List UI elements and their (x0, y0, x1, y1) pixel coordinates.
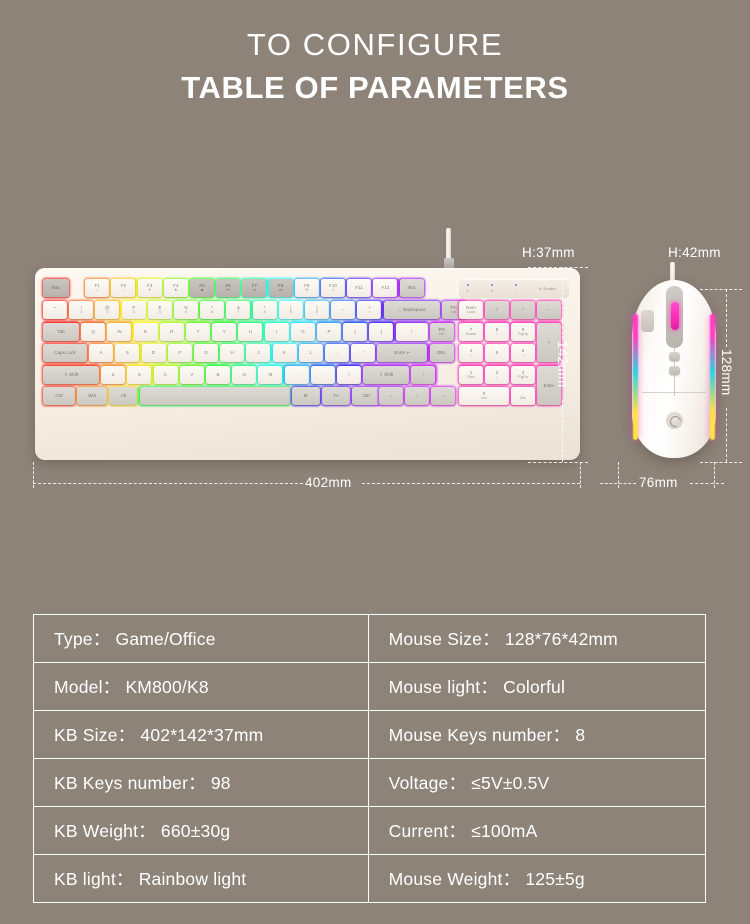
guide-mouse-left (618, 462, 619, 488)
keyboard-key: O (291, 323, 315, 341)
keyboard-key: Esc (43, 279, 69, 297)
guide-mouse-bottom (700, 462, 742, 463)
spec-value: KM800/K8 (125, 677, 208, 697)
keyboard-key: 1End (459, 366, 483, 384)
keyboard-key: ^6 (200, 301, 224, 319)
keyboard-key: !1 (69, 301, 93, 319)
keyboard-key: 5 (485, 344, 509, 362)
keyboard-key: G (194, 344, 218, 362)
keyboard-key: R (160, 323, 184, 341)
keyboard-key: ~` (43, 301, 67, 319)
indicator-label: ↓ (515, 289, 517, 293)
spec-value: Game/Office (116, 629, 216, 649)
keyboard-key: F2← (111, 279, 135, 297)
keyboard-key: $4 (148, 301, 172, 319)
keyboard-key: D (142, 344, 166, 362)
spec-cell-right: Mouse Keys number： 8 (368, 711, 705, 759)
indicator-label: 1 (467, 289, 469, 293)
spec-cell-right: Mouse Weight： 125±5g (368, 855, 705, 903)
keyboard-key: Z (101, 366, 125, 384)
spec-label: Mouse Weight： (389, 869, 521, 889)
spec-row: Type： Game/OfficeMouse Size： 128*76*42mm (34, 615, 706, 663)
indicator-label: A (491, 289, 493, 293)
dim-keyboard-width: 402mm (305, 475, 352, 490)
keyboard-key: F3☀ (138, 279, 162, 297)
spec-row: Model： KM800/K8Mouse light： Colorful (34, 663, 706, 711)
keyboard-key: 3PgDn (511, 366, 535, 384)
spec-cell-left: Type： Game/Office (34, 615, 369, 663)
guide-mouse-width (600, 483, 636, 484)
keyboard-key: N (232, 366, 256, 384)
keyboard-key: L (299, 344, 323, 362)
keyboard-key: \ (396, 323, 428, 341)
spec-row: KB Size： 402*142*37mmMouse Keys number： … (34, 711, 706, 759)
keyboard-key: V (180, 366, 204, 384)
keyboard-key: 9PgUp (511, 323, 535, 341)
keyboard-key: ⇧ Shift (43, 366, 99, 384)
keyboard-key: B (206, 366, 230, 384)
keyboard-brand-logo: K-Snake (539, 286, 556, 291)
spec-label: Mouse light： (389, 677, 498, 697)
spec-value: Colorful (503, 677, 565, 697)
keyboard-key: F4★ (164, 279, 188, 297)
keyboard-key: * (511, 301, 535, 319)
keyboard-key: ] (369, 323, 393, 341)
spec-cell-left: KB Keys number： 98 (34, 759, 369, 807)
keyboard-key: → (431, 387, 455, 405)
keyboard-key: U (238, 323, 262, 341)
mouse-side-button (641, 310, 654, 332)
spec-cell-left: KB Size： 402*142*37mm (34, 711, 369, 759)
keyboard-key: ↓ (405, 387, 429, 405)
spec-value: Rainbow light (139, 869, 247, 889)
keyboard-key: ← (379, 387, 403, 405)
dim-keyboard-depth: 142mm (555, 341, 570, 388)
keyboard-key: Tab (43, 323, 79, 341)
guide-kb-top (528, 267, 588, 268)
spec-label: Mouse Keys number： (389, 725, 571, 745)
product-spec-page: TO CONFIGURE TABLE OF PARAMETERS EscF1♪F… (0, 0, 750, 924)
keyboard-key: .Del (511, 387, 535, 405)
spec-value: 98 (211, 773, 231, 793)
keyboard-key: F7⏯ (242, 279, 266, 297)
mouse-rgb-strip-right (710, 314, 715, 440)
keyboard-key: *8 (253, 301, 277, 319)
keyboard-key: PGDn (430, 323, 454, 341)
keyboard-key: E (134, 323, 158, 341)
spec-value: 660±30g (161, 821, 230, 841)
spec-value: 8 (575, 725, 585, 745)
keyboard-key: (9 (279, 301, 303, 319)
mouse-scroll-wheel (671, 302, 679, 330)
keyboard-key: _- (331, 301, 355, 319)
mouse-shell-seam (642, 392, 706, 393)
keyboard-key: Ctrl (352, 387, 380, 405)
dim-keyboard-height: H:37mm (522, 245, 575, 260)
spec-cell-right: Voltage： ≤5V±0.5V (368, 759, 705, 807)
keyboard-key: A (89, 344, 113, 362)
keyboard-key: 8↑ (485, 323, 509, 341)
spec-row: KB Keys number： 98Voltage： ≤5V±0.5V (34, 759, 706, 807)
spec-cell-right: Mouse light： Colorful (368, 663, 705, 711)
keyboard-key: P (317, 323, 341, 341)
mouse-image (626, 262, 722, 460)
keyboard-image: EscF1♪F2←F3☀F4★F5■F6⏮F7⏯F8⏭F9✉F10⌂F11F12… (35, 268, 580, 460)
spec-value: ≤5V±0.5V (471, 773, 549, 793)
keyboard-key: [ (343, 323, 367, 341)
title-line-1: TO CONFIGURE (0, 28, 750, 63)
keyboard-key: . (311, 366, 335, 384)
keyboard-key: , (285, 366, 309, 384)
keyboard-key: W (107, 323, 131, 341)
guide-kb-bottom (528, 462, 588, 463)
guide-kb-left (33, 462, 34, 488)
keyboard-key: ; (325, 344, 349, 362)
spec-row: KB light： Rainbow lightMouse Weight： 125… (34, 855, 706, 903)
keyboard-key: Enter ↵ (377, 344, 427, 362)
title-line-2: TABLE OF PARAMETERS (0, 69, 750, 106)
spec-cell-left: Model： KM800/K8 (34, 663, 369, 711)
keyboard-key: Caps Lock (43, 344, 87, 362)
spec-value: 402*142*37mm (140, 725, 263, 745)
spec-label: KB Keys number： (54, 773, 206, 793)
keyboard-key: ⇧ Shift (363, 366, 409, 384)
specification-table: Type： Game/OfficeMouse Size： 128*76*42mm… (33, 614, 706, 903)
guide-mouse-width-2 (690, 483, 724, 484)
dim-mouse-height: H:42mm (668, 245, 721, 260)
keyboard-key: INS (400, 279, 424, 297)
keyboard-key: @2 (95, 301, 119, 319)
keyboard-key: / (337, 366, 361, 384)
keyboard-key: F (168, 344, 192, 362)
keyboard-key: F11 (347, 279, 371, 297)
page-title: TO CONFIGURE TABLE OF PARAMETERS (0, 28, 750, 106)
spec-label: Model： (54, 677, 120, 697)
spec-label: Voltage： (389, 773, 467, 793)
keyboard-key: F12 (373, 279, 397, 297)
keyboard-key: J (246, 344, 270, 362)
keyboard-key: / (485, 301, 509, 319)
mouse-body (632, 280, 716, 458)
spec-label: Type： (54, 629, 110, 649)
keyboard-key: K (273, 344, 297, 362)
keyboard-key: Y (212, 323, 236, 341)
keyboard-key: 6→ (511, 344, 535, 362)
keyboard-key: 7Home (459, 323, 483, 341)
keyboard-key: ← Backspace (384, 301, 440, 319)
guide-kb-right (580, 462, 581, 488)
guide-mouse-length-2 (726, 408, 727, 462)
keyboard-key: Q (81, 323, 105, 341)
keyboard-key: DEL (430, 344, 454, 362)
spec-value: ≤100mA (471, 821, 537, 841)
spec-label: KB Size： (54, 725, 135, 745)
spec-cell-left: KB Weight： 660±30g (34, 807, 369, 855)
keyboard-key: F1♪ (85, 279, 109, 297)
guide-kb-depth-2 (562, 400, 563, 462)
keyboard-key: %5 (174, 301, 198, 319)
keyboard-key: 2↓ (485, 366, 509, 384)
guide-kb-depth (562, 267, 563, 339)
mouse-brand-logo-icon (666, 412, 683, 429)
keyboard-key: ' (351, 344, 375, 362)
keyboard-key: )0 (305, 301, 329, 319)
keyboard-key: ↑ (411, 366, 435, 384)
keyboard-key: #3 (122, 301, 146, 319)
mouse-rgb-strip-left (633, 314, 638, 440)
spec-label: Current： (389, 821, 466, 841)
guide-kb-width-2 (362, 483, 580, 484)
spec-cell-left: KB light： Rainbow light (34, 855, 369, 903)
keyboard-key: &7 (226, 301, 250, 319)
keyboard-key: += (357, 301, 381, 319)
spec-label: KB light： (54, 869, 134, 889)
spec-cell-right: Current： ≤100mA (368, 807, 705, 855)
keyboard-key (140, 387, 290, 405)
keyboard-key: Ctrl (43, 387, 75, 405)
spec-value: 128*76*42mm (505, 629, 618, 649)
keyboard-key: F9✉ (295, 279, 319, 297)
keyboard-key: 0Ins (459, 387, 509, 405)
keyboard-key: Fn (322, 387, 350, 405)
keyboard-key: 4← (459, 344, 483, 362)
guide-mouse-length (726, 289, 727, 347)
keyboard-key: X (127, 366, 151, 384)
keyboard-key: – (537, 301, 561, 319)
spec-label: Mouse Size： (389, 629, 500, 649)
dim-mouse-width: 76mm (639, 475, 678, 490)
keyboard-key: M (258, 366, 282, 384)
keyboard-key: Win (77, 387, 107, 405)
keyboard-key: T (186, 323, 210, 341)
keyboard-key: F5■ (190, 279, 214, 297)
keyboard-key: I (265, 323, 289, 341)
dim-mouse-length: 128mm (719, 349, 734, 396)
keyboard-key: F6⏮ (216, 279, 240, 297)
spec-value: 125±5g (525, 869, 584, 889)
spec-label: KB Weight： (54, 821, 156, 841)
mouse-dpi-button-up (669, 352, 680, 361)
keyboard-key: NumLock (459, 301, 483, 319)
keyboard-key: F8⏭ (269, 279, 293, 297)
mouse-dpi-button-down (669, 366, 680, 375)
keyboard-key: Alt (109, 387, 137, 405)
keyboard-key: H (220, 344, 244, 362)
keyboard-key: F10⌂ (321, 279, 345, 297)
guide-mouse-right (714, 462, 715, 488)
guide-mouse-top (700, 289, 742, 290)
spec-cell-right: Mouse Size： 128*76*42mm (368, 615, 705, 663)
keyboard-key: C (154, 366, 178, 384)
keyboard-key: S (115, 344, 139, 362)
keyboard-key: ⚙ (292, 387, 320, 405)
spec-row: KB Weight： 660±30gCurrent： ≤100mA (34, 807, 706, 855)
guide-kb-width (33, 483, 303, 484)
